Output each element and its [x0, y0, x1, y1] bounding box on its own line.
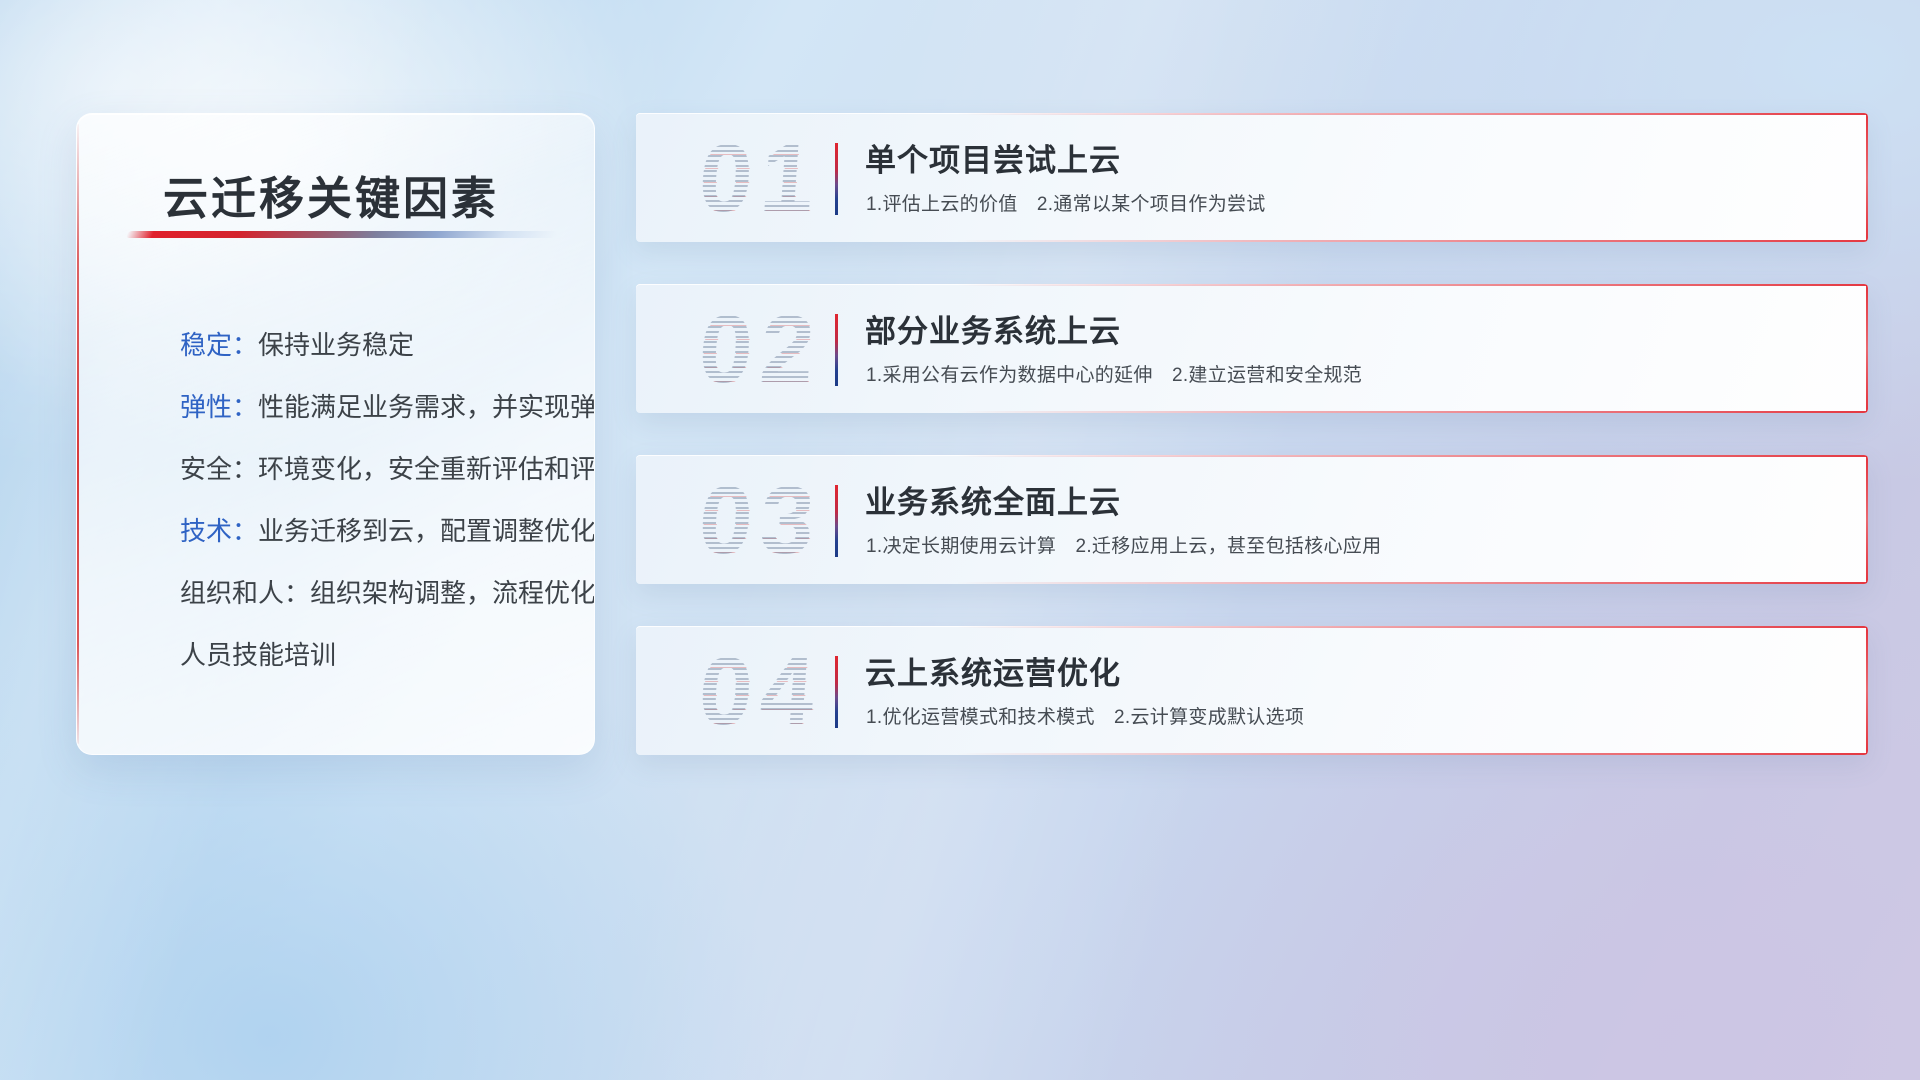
panel-left-accent-bar	[77, 124, 79, 744]
card-bottom-edge-line	[956, 753, 1868, 755]
key-factor-label: 弹性：	[180, 392, 258, 422]
card-bottom-edge-line	[956, 582, 1868, 584]
card-divider-bar	[835, 485, 838, 557]
key-factor-row: 稳定：保持业务稳定	[180, 314, 574, 376]
key-factor-value: 保持业务稳定	[258, 330, 414, 360]
card-heading: 云上系统运营优化	[865, 648, 1121, 693]
stage-card[interactable]: 0202部分业务系统上云1.采用公有云作为数据中心的延伸 2.建立运营和安全规范	[636, 284, 1868, 413]
card-description: 1.采用公有云作为数据中心的延伸 2.建立运营和安全规范	[866, 360, 1362, 387]
card-top-edge-line	[956, 284, 1868, 286]
key-factor-label: 组织和人：	[180, 578, 310, 608]
key-factor-row: 人员技能培训	[180, 624, 574, 686]
stage-card-list: 0101单个项目尝试上云1.评估上云的价值 2.通常以某个项目作为尝试0202部…	[636, 113, 1868, 797]
card-description: 1.优化运营模式和技术模式 2.云计算变成默认选项	[866, 702, 1304, 729]
key-factor-value: 业务迁移到云，配置调整优化	[258, 516, 595, 546]
card-top-edge-line	[956, 113, 1868, 115]
card-right-edge-line	[1866, 455, 1868, 584]
key-factor-row: 技术：业务迁移到云，配置调整优化	[180, 500, 574, 562]
card-divider-bar	[835, 314, 838, 386]
key-factor-value: 性能满足业务需求，并实现弹性	[258, 392, 595, 422]
card-description: 1.决定长期使用云计算 2.迁移应用上云，甚至包括核心应用	[866, 531, 1381, 558]
card-right-edge-line	[1866, 113, 1868, 242]
key-factor-label: 技术：	[180, 516, 258, 546]
card-heading: 业务系统全面上云	[865, 477, 1121, 522]
card-heading: 单个项目尝试上云	[865, 135, 1121, 180]
key-factor-value: 人员技能培训	[180, 640, 336, 670]
key-factor-label: 安全：	[180, 454, 258, 484]
card-divider-bar	[835, 143, 838, 215]
card-divider-bar	[835, 656, 838, 728]
stage-card[interactable]: 0101单个项目尝试上云1.评估上云的价值 2.通常以某个项目作为尝试	[636, 113, 1868, 242]
key-factor-label: 稳定：	[180, 330, 258, 360]
key-factor-value: 环境变化，安全重新评估和评审	[258, 454, 595, 484]
key-factor-row: 组织和人：组织架构调整，流程优化，	[180, 562, 574, 624]
card-bottom-edge-line	[956, 240, 1868, 242]
card-bottom-edge-line	[956, 411, 1868, 413]
card-top-edge-line	[956, 455, 1868, 457]
slide-stage: 云迁移关键因素 稳定：保持业务稳定弹性：性能满足业务需求，并实现弹性安全：环境变…	[0, 0, 1920, 1080]
card-heading: 部分业务系统上云	[865, 306, 1121, 351]
card-right-edge-line	[1866, 284, 1868, 413]
page-title: 云迁移关键因素	[163, 162, 499, 227]
card-top-edge-line	[956, 626, 1868, 628]
stage-card[interactable]: 0404云上系统运营优化1.优化运营模式和技术模式 2.云计算变成默认选项	[636, 626, 1868, 755]
stage-card[interactable]: 0303业务系统全面上云1.决定长期使用云计算 2.迁移应用上云，甚至包括核心应…	[636, 455, 1868, 584]
title-underline	[126, 231, 559, 238]
key-factors-panel: 云迁移关键因素 稳定：保持业务稳定弹性：性能满足业务需求，并实现弹性安全：环境变…	[76, 113, 595, 755]
card-right-edge-line	[1866, 626, 1868, 755]
card-description: 1.评估上云的价值 2.通常以某个项目作为尝试	[866, 189, 1266, 216]
key-factor-value: 组织架构调整，流程优化，	[310, 578, 595, 608]
key-factor-row: 弹性：性能满足业务需求，并实现弹性	[180, 376, 574, 438]
key-factors-list: 稳定：保持业务稳定弹性：性能满足业务需求，并实现弹性安全：环境变化，安全重新评估…	[180, 314, 574, 686]
key-factor-row: 安全：环境变化，安全重新评估和评审	[180, 438, 574, 500]
